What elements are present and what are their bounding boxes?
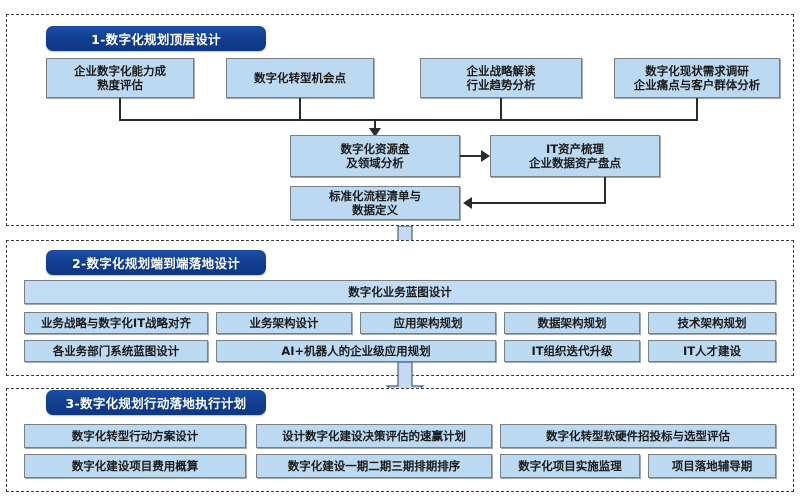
connector-it-down	[604, 177, 606, 203]
box-maturity-assessment[interactable]: 企业数字化能力成熟度评估	[46, 58, 194, 98]
section-title-3: 3-数字化规划行动落地执行计划	[46, 390, 266, 415]
box-resource-inventory[interactable]: 数字化资源盘及领域分析	[290, 135, 460, 177]
connector-drop-4	[696, 98, 698, 120]
section-title-1: 1-数字化规划顶层设计	[46, 26, 266, 51]
box-software-hardware-bidding[interactable]: 数字化转型软硬件招投标与选型评估	[500, 424, 776, 448]
box-it-asset-review[interactable]: IT资产梳理企业数据资产盘点	[490, 135, 660, 177]
box-it-talent-building[interactable]: IT人才建设	[648, 340, 776, 362]
box-standard-process-list[interactable]: 标准化流程清单与数据定义	[290, 186, 460, 220]
box-it-org-upgrade[interactable]: IT组织迭代升级	[504, 340, 640, 362]
arrow-right-icon	[481, 150, 490, 162]
section-title-2: 2-数字化规划端到端落地设计	[46, 250, 266, 275]
box-landing-coaching[interactable]: 项目落地辅导期	[648, 454, 776, 478]
diagram-canvas: 1-数字化规划顶层设计 企业数字化能力成熟度评估 数字化转型机会点 企业战略解读…	[0, 0, 800, 500]
connector-drop-1	[119, 98, 121, 120]
box-project-supervision[interactable]: 数字化项目实施监理	[500, 454, 640, 478]
box-application-architecture[interactable]: 应用架构规划	[360, 312, 496, 334]
box-strategy-alignment[interactable]: 业务战略与数字化IT战略对齐	[24, 312, 208, 334]
box-current-state-research[interactable]: 数字化现状需求调研企业痛点与客户群体分析	[614, 58, 780, 98]
box-department-blueprint[interactable]: 各业务部门系统蓝图设计	[24, 340, 208, 362]
arrow-left-icon	[463, 197, 472, 209]
box-phase-scheduling[interactable]: 数字化建设一期二期三期排期排序	[256, 454, 492, 478]
box-data-architecture[interactable]: 数据架构规划	[504, 312, 640, 334]
box-quick-win-plan[interactable]: 设计数字化建设决策评估的速赢计划	[256, 424, 492, 448]
box-business-architecture[interactable]: 业务架构设计	[216, 312, 352, 334]
box-business-blueprint-banner[interactable]: 数字化业务蓝图设计	[24, 280, 776, 304]
box-strategy-interpretation[interactable]: 企业战略解读行业趋势分析	[420, 58, 582, 98]
connector-bus	[119, 119, 698, 121]
connector-drop-2	[299, 98, 301, 120]
box-transformation-action-plan[interactable]: 数字化转型行动方案设计	[24, 424, 246, 448]
connector-it-to-standard	[472, 202, 606, 204]
connector-drop-3	[500, 98, 502, 120]
box-transformation-opportunities[interactable]: 数字化转型机会点	[226, 58, 374, 98]
box-ai-robot-enterprise-plan[interactable]: AI+机器人的企业级应用规划	[216, 340, 496, 362]
box-technical-architecture[interactable]: 技术架构规划	[648, 312, 776, 334]
box-project-cost-budget[interactable]: 数字化建设项目费用概算	[24, 454, 246, 478]
connector-resource-to-it	[460, 155, 482, 157]
